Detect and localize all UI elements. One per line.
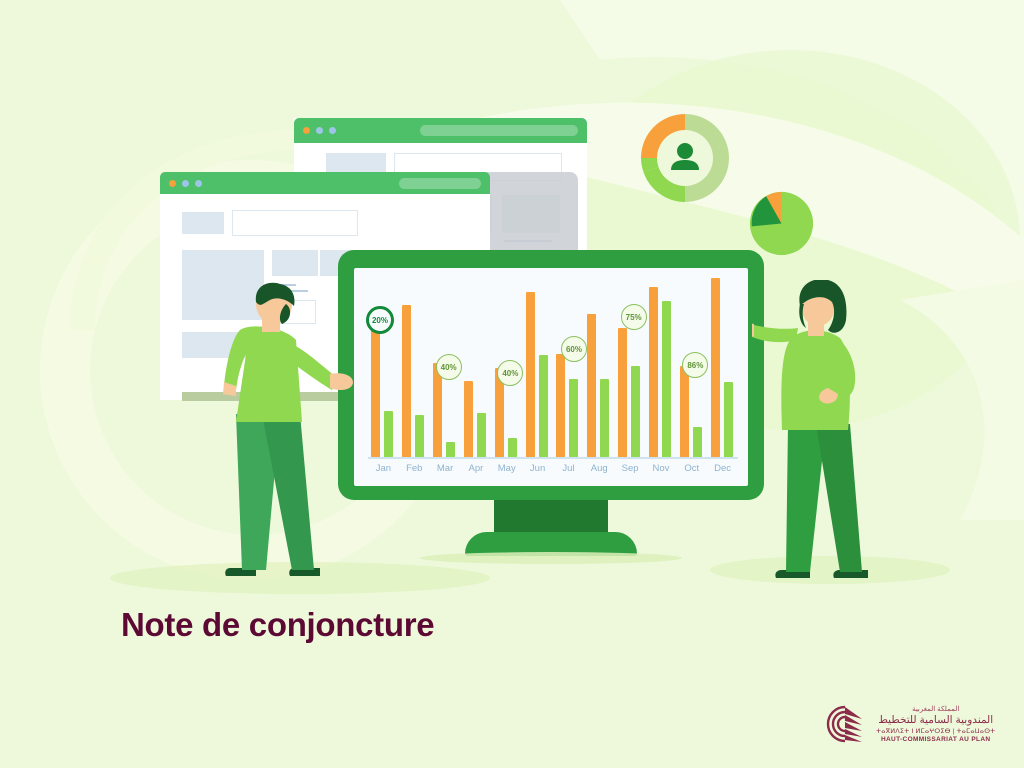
bar-chart-plot: 20%40%40%60%75%86% bbox=[368, 278, 738, 458]
content-block bbox=[182, 212, 224, 234]
bar-green-apr bbox=[477, 413, 486, 458]
bar-green-sep bbox=[631, 366, 640, 458]
bar-green-jan bbox=[384, 411, 393, 458]
x-label-sep: Sep bbox=[613, 463, 647, 474]
leg-right bbox=[816, 424, 862, 572]
x-label-jun: Jun bbox=[521, 463, 555, 474]
monitor-screen: 20%40%40%60%75%86% JanFebMarAprMayJunJul… bbox=[354, 268, 748, 486]
window-titlebar[interactable] bbox=[160, 172, 490, 194]
bar-green-jun bbox=[539, 355, 548, 458]
bar-orange-feb bbox=[402, 305, 411, 458]
x-label-nov: Nov bbox=[644, 463, 678, 474]
bar-orange-jan bbox=[371, 325, 380, 458]
chart-x-axis bbox=[368, 457, 738, 459]
bar-green-mar bbox=[446, 442, 455, 458]
chart-badge-75pct: 75% bbox=[621, 304, 647, 330]
bar-green-oct bbox=[693, 427, 702, 458]
bar-green-nov bbox=[662, 301, 671, 458]
x-label-feb: Feb bbox=[397, 463, 431, 474]
bar-orange-oct bbox=[680, 366, 689, 458]
poster-canvas: 20%40%40%60%75%86% JanFebMarAprMayJunJul… bbox=[0, 0, 1024, 768]
close-dot-icon[interactable] bbox=[169, 180, 176, 187]
minimize-dot-icon[interactable] bbox=[182, 180, 189, 187]
bar-green-may bbox=[508, 438, 517, 458]
bar-green-dec bbox=[724, 382, 733, 458]
logo-arabic-line-1: المملكة المغربية bbox=[912, 705, 959, 713]
bar-orange-sep bbox=[618, 328, 627, 458]
bar-green-feb bbox=[415, 415, 424, 458]
monitor-floor-shadow bbox=[420, 552, 682, 564]
chart-badge-86pct: 86% bbox=[682, 352, 708, 378]
sweater bbox=[224, 326, 302, 422]
user-donut-chart bbox=[635, 108, 735, 208]
x-label-jan: Jan bbox=[366, 463, 400, 474]
bar-green-aug bbox=[600, 379, 609, 458]
logo-text-block: المملكة المغربية المندوبية السامية للتخط… bbox=[876, 705, 995, 743]
address-bar[interactable] bbox=[420, 125, 578, 136]
monitor: 20%40%40%60%75%86% JanFebMarAprMayJunJul… bbox=[338, 250, 764, 500]
chart-badge-60pct: 60% bbox=[561, 336, 587, 362]
bar-orange-apr bbox=[464, 381, 473, 458]
small-pie-chart bbox=[748, 190, 815, 257]
maximize-dot-icon[interactable] bbox=[329, 127, 336, 134]
man-figure bbox=[222, 282, 354, 582]
x-label-mar: Mar bbox=[428, 463, 462, 474]
logo-mark-icon bbox=[822, 701, 868, 747]
bar-orange-jun bbox=[526, 292, 535, 458]
logo-french-line: HAUT-COMMISSARIAT AU PLAN bbox=[881, 736, 991, 743]
chart-badge-20pct: 20% bbox=[366, 306, 394, 334]
hand-left bbox=[752, 323, 754, 338]
page-title: Note de conjoncture bbox=[121, 606, 434, 644]
content-input-block bbox=[232, 210, 358, 236]
chart-x-tick-labels: JanFebMarAprMayJunJulAugSepNovOctDec bbox=[368, 463, 738, 479]
bar-green-jul bbox=[569, 379, 578, 458]
logo-arabic-line-2: المندوبية السامية للتخطيط bbox=[878, 714, 993, 726]
address-bar[interactable] bbox=[399, 178, 481, 189]
x-label-jul: Jul bbox=[551, 463, 585, 474]
hand-right bbox=[330, 373, 353, 390]
bar-orange-jul bbox=[556, 354, 565, 458]
content-block bbox=[272, 250, 318, 276]
woman-figure bbox=[752, 280, 882, 584]
maximize-dot-icon[interactable] bbox=[195, 180, 202, 187]
arm-left bbox=[752, 324, 798, 342]
minimize-dot-icon[interactable] bbox=[316, 127, 323, 134]
x-label-dec: Dec bbox=[706, 463, 740, 474]
x-label-apr: Apr bbox=[459, 463, 493, 474]
bar-orange-nov bbox=[649, 287, 658, 458]
chart-badge-40pct: 40% bbox=[497, 360, 523, 386]
chart-badge-40pct: 40% bbox=[436, 354, 462, 380]
haut-commissariat-au-plan-logo: المملكة المغربية المندوبية السامية للتخط… bbox=[822, 698, 1010, 750]
window-titlebar[interactable] bbox=[294, 118, 587, 143]
close-dot-icon[interactable] bbox=[303, 127, 310, 134]
x-label-aug: Aug bbox=[582, 463, 616, 474]
bar-orange-dec bbox=[711, 278, 720, 458]
x-label-may: May bbox=[490, 463, 524, 474]
logo-tifinagh-line: ⵜⴰⴳⵍⴷⵉⵜ ⵏ ⵍⵎⴰⵖⵔⵉⴱ | ⵜⴰⵎⴰⵡⴰⵙⵜ bbox=[876, 727, 995, 735]
bar-orange-aug bbox=[587, 314, 596, 458]
x-label-oct: Oct bbox=[675, 463, 709, 474]
